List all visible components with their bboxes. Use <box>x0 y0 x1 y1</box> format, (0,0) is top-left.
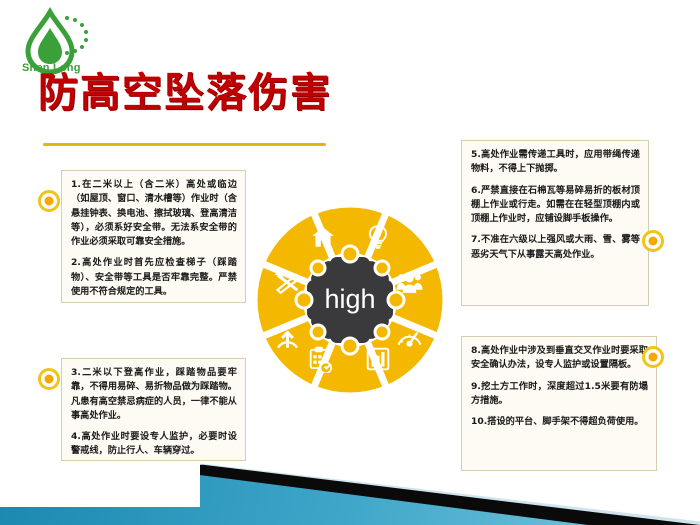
checklist-clipboard-icon <box>308 346 336 373</box>
ring-marker-left-top <box>38 190 60 212</box>
lightbulb-icon <box>365 224 391 250</box>
central-wheel-diagram: high <box>252 202 448 398</box>
people-group-icon <box>396 270 423 297</box>
ring-marker-right-bottom <box>642 346 664 368</box>
gauge-icon <box>396 324 423 351</box>
rules-box-bottom-right: 8.高处作业中涉及到垂直交叉作业时要采取安全确认办法，设专人监护或设置隔板。 9… <box>461 336 657 471</box>
rule-item: 2.高处作业时首先应检查梯子（踩踏物）、安全带等工具是否牢靠完整。严禁使用不符合… <box>71 256 237 299</box>
crossed-tools-icon <box>274 268 302 296</box>
ring-marker-right-top <box>642 230 664 252</box>
wheel-hub-label: high <box>324 284 375 314</box>
rule-item: 6.严禁直接在石棉瓦等易碎易折的板材顶棚上作业或行走。如需在在轻型顶棚内或顶棚上… <box>471 184 640 227</box>
rule-item: 1.在二米以上（含二米）高处或临边（如屋顶、窗口、清水槽等）作业时（含悬挂钟表、… <box>71 178 237 249</box>
slide-canvas: Shen Long 防高空坠落伤害 <box>0 0 700 525</box>
upload-arrow-circle-icon <box>274 324 301 351</box>
rule-item: 7.不准在六级以上强风或大雨、雪、雾等恶劣天气下从事露天高处作业。 <box>471 233 640 262</box>
house-icon <box>310 224 336 250</box>
bar-chart-icon <box>365 346 391 372</box>
rules-box-bottom-left: 3.二米以下登高作业，踩踏物品要牢靠，不得用易碎、易折物品做为踩踏物。凡患有高空… <box>61 358 246 461</box>
rule-item: 4.高处作业时要设专人监护，必要时设警戒线，防止行人、车辆穿过。 <box>71 430 237 459</box>
rule-item: 8.高处作业中涉及到垂直交叉作业时要采取安全确认办法，设专人监护或设置隔板。 <box>471 344 648 373</box>
rules-box-top-right: 5.高处作业需传递工具时，应用带绳传递物料，不得上下抛掷。 6.严禁直接在石棉瓦… <box>461 140 649 306</box>
page-title: 防高空坠落伤害 <box>38 60 332 118</box>
rule-item: 5.高处作业需传递工具时，应用带绳传递物料，不得上下抛掷。 <box>471 148 640 177</box>
rules-box-top-left: 1.在二米以上（含二米）高处或临边（如屋顶、窗口、清水槽等）作业时（含悬挂钟表、… <box>61 170 246 303</box>
title-underline-rule <box>43 143 326 146</box>
rule-item: 3.二米以下登高作业，踩踏物品要牢靠，不得用易碎、易折物品做为踩踏物。凡患有高空… <box>71 366 237 423</box>
ring-marker-left-bottom <box>38 368 60 390</box>
rule-item: 9.挖土方工作时，深度超过1.5米要有防塌方措施。 <box>471 380 648 409</box>
rule-item: 10.搭设的平台、脚手架不得超负荷使用。 <box>471 415 648 429</box>
